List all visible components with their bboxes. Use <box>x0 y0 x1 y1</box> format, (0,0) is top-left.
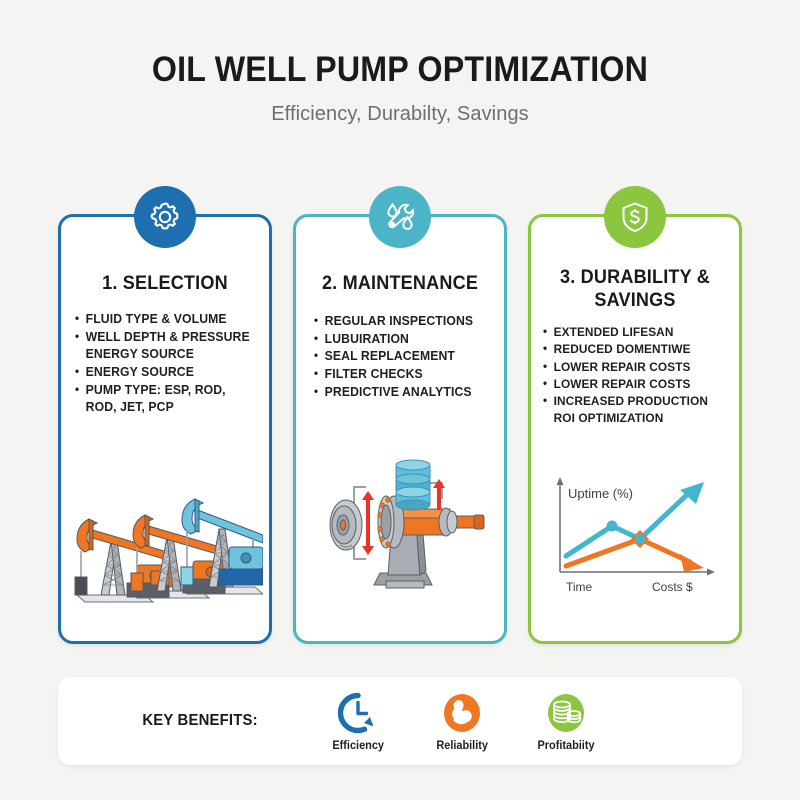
list-item: REGULAR INSPECTIONS <box>314 313 496 331</box>
benefit-profitability[interactable]: Profitabiity <box>514 691 618 752</box>
list-item: LOWER REPAIR COSTS <box>543 376 731 393</box>
card-durability-savings[interactable]: 3. DURABILITY & SAVINGS EXTENDED LIFESAN… <box>528 214 742 644</box>
benefit-efficiency[interactable]: Efficiency <box>306 691 410 752</box>
list-item: FLUID TYPE & VOLUME <box>75 311 261 329</box>
header: OIL WELL PUMP OPTIMIZATION Efficiency, D… <box>0 0 800 126</box>
cards-row: 1. SELECTION FLUID TYPE & VOLUME WELL DE… <box>58 214 742 644</box>
shield-dollar-icon <box>604 186 666 248</box>
benefit-label: Profitabiity <box>538 740 595 752</box>
card-title: 1. SELECTION <box>66 272 264 295</box>
card-bullet-list: FLUID TYPE & VOLUME WELL DEPTH & PRESSUR… <box>61 311 269 417</box>
list-item: LOWER REPAIR COSTS <box>543 359 731 376</box>
page-title: OIL WELL PUMP OPTIMIZATION <box>32 52 768 89</box>
card-bullet-list: EXTENDED LIFESAN REDUCED DOMENTIWE LOWER… <box>531 324 739 426</box>
card-title: 3. DURABILITY & SAVINGS <box>536 266 734 312</box>
chart-xlabel-left: Time <box>566 580 593 594</box>
bicep-muscle-icon <box>441 691 483 735</box>
page-subtitle: Efficiency, Durabilty, Savings <box>0 103 800 126</box>
gear-icon <box>134 186 196 248</box>
list-item: PREDICTIVE ANALYTICS <box>314 384 496 402</box>
pump-bearing-assembly-illustration <box>296 448 504 593</box>
list-item: INCREASED PRODUCTION ROI OPTIMIZATION <box>543 393 731 427</box>
list-item: WELL DEPTH & PRESSURE ENERGY SOURCE <box>75 329 261 364</box>
key-benefits-panel: KEY BENEFITS: Efficiency Reliability <box>58 677 742 765</box>
chart-ylabel: Uptime (%) <box>568 486 633 501</box>
list-item: SEAL REPLACEMENT <box>314 348 496 366</box>
list-item: REDUCED DOMENTIWE <box>543 341 731 358</box>
clock-arrow-icon <box>337 691 379 735</box>
benefit-label: Efficiency <box>332 740 384 752</box>
coin-stack-icon <box>545 691 587 735</box>
list-item: ENERGY SOURCE <box>75 364 261 382</box>
pumpjacks-illustration <box>61 464 269 619</box>
card-title: 2. MAINTENANCE <box>301 272 499 295</box>
list-item: FILTER CHECKS <box>314 366 496 384</box>
wrench-oildrop-icon <box>369 186 431 248</box>
uptime-costs-line-chart: Uptime (%) Time Costs $ <box>531 464 739 599</box>
list-item: EXTENDED LIFESAN <box>543 324 731 341</box>
card-bullet-list: REGULAR INSPECTIONS LUBUIRATION SEAL REP… <box>296 313 504 401</box>
card-maintenance[interactable]: 2. MAINTENANCE REGULAR INSPECTIONS LUBUI… <box>293 214 507 644</box>
benefit-reliability[interactable]: Reliability <box>410 691 514 752</box>
list-item: LUBUIRATION <box>314 331 496 349</box>
chart-xlabel-right: Costs $ <box>652 580 693 594</box>
chart-marker <box>607 521 618 532</box>
list-item: PUMP TYPE: ESP, ROD, ROD, JET, PCP <box>75 382 261 417</box>
card-selection[interactable]: 1. SELECTION FLUID TYPE & VOLUME WELL DE… <box>58 214 272 644</box>
key-benefits-label: KEY BENEFITS: <box>142 712 257 730</box>
benefit-label: Reliability <box>436 740 488 752</box>
